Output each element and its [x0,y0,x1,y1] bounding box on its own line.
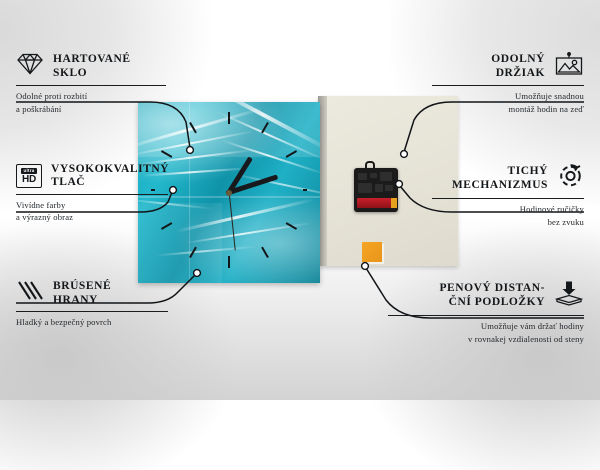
feature-header: ultra HD VYSOKOKVALITNÝ TLAČ [16,163,168,190]
infographic-canvas: HARTOVANÉ SKLO Odolné proti rozbití a po… [0,0,600,400]
feature-header: HARTOVANÉ SKLO [16,52,166,81]
feature-silent-mechanism: TICHÝ MECHANIZMUS Hodinové ručičky bez z… [432,163,584,228]
feature-description: Hladký a bezpečný povrch [16,316,168,328]
title-line-1: TICHÝ [452,165,548,178]
gear-icon [557,163,584,194]
title-line-1: PENOVÝ DISTAN- [439,282,545,295]
wall-hanger-icon [554,52,584,81]
feature-durable-hanger: ODOLNÝ DRŽIAK Umožňuje snadnou montáž ho… [432,52,584,115]
title-line-1: ODOLNÝ [491,53,545,66]
divider [432,85,584,86]
feature-title: VYSOKOKVALITNÝ TLAČ [51,163,169,190]
title-line-1: HARTOVANÉ [53,53,131,66]
foam-spacer-pad [362,242,382,262]
ultra-hd-badge-icon: ultra HD [16,164,42,188]
clock-hub [226,190,232,196]
divider [432,198,584,199]
feature-description: Odolné proti rozbití a poškrábání [16,90,166,114]
title-line-1: VYSOKOKVALITNÝ [51,163,169,176]
beveled-edges-icon [16,280,44,307]
title-line-2: MECHANIZMUS [452,179,548,192]
feature-description: Vivídne farby a výrazný obraz [16,199,168,223]
diamond-icon [16,52,44,81]
title-line-2: SKLO [53,67,131,80]
feature-foam-spacers: PENOVÝ DISTAN- ČNÍ PODLOŽKY Umožňuje vám… [388,280,584,345]
divider [16,85,166,86]
feature-title: BRÚSENÉ HRANY [53,280,111,307]
feature-header: TICHÝ MECHANIZMUS [432,163,584,194]
feature-header: BRÚSENÉ HRANY [16,280,168,307]
title-line-2: HRANY [53,294,111,307]
feature-description: Umožňuje snadnou montáž hodin na zeď [432,90,584,114]
feature-header: ODOLNÝ DRŽIAK [432,52,584,81]
feature-description: Hodinové ručičky bez zvuku [432,203,584,227]
feature-beveled-edges: BRÚSENÉ HRANY Hladký a bezpečný povrch [16,280,168,329]
title-line-2: ČNÍ PODLOŽKY [439,296,545,309]
feature-tempered-glass: HARTOVANÉ SKLO Odolné proti rozbití a po… [16,52,166,115]
divider [388,315,584,316]
feature-title: TICHÝ MECHANIZMUS [452,165,548,192]
feature-high-quality-print: ultra HD VYSOKOKVALITNÝ TLAČ Vivídne far… [16,163,168,223]
feature-title: HARTOVANÉ SKLO [53,53,131,80]
title-line-1: BRÚSENÉ [53,280,111,293]
battery [357,198,391,208]
title-line-2: TLAČ [51,176,169,189]
hd-badge-main-label: HD [22,174,36,185]
title-line-2: DRŽIAK [491,67,545,80]
feature-description: Umožňuje vám držať hodiny v rovnakej vzd… [388,320,584,344]
clock-mechanism [354,168,398,212]
feature-header: PENOVÝ DISTAN- ČNÍ PODLOŽKY [388,280,584,311]
battery-terminal [391,198,397,208]
feature-title: PENOVÝ DISTAN- ČNÍ PODLOŽKY [439,282,545,309]
foam-spacer-icon [554,280,584,311]
feature-title: ODOLNÝ DRŽIAK [491,53,545,80]
divider [16,194,168,195]
divider [16,311,168,312]
mechanism-hanger [365,161,375,169]
